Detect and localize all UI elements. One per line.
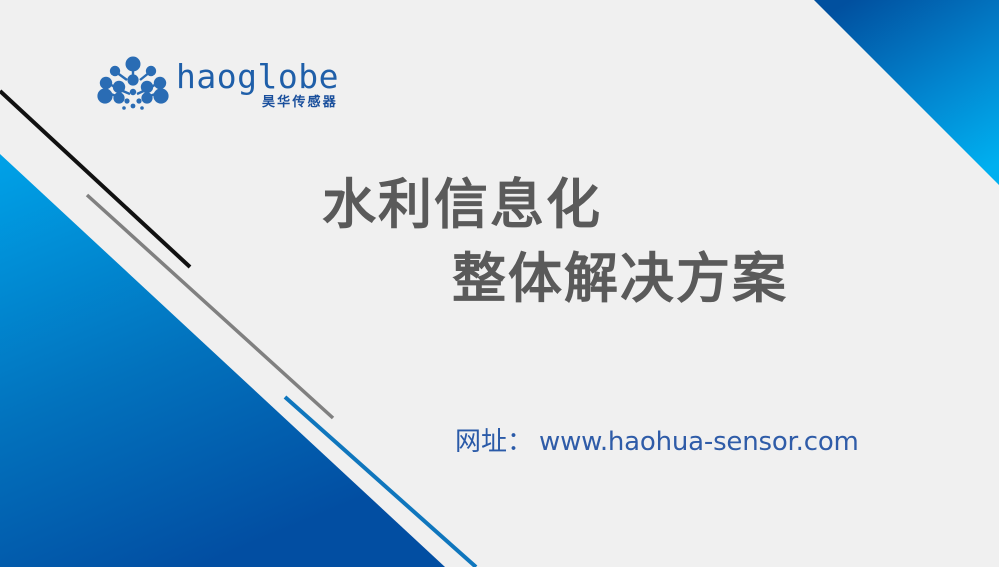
haoglobe-network-nodes-logo-icon	[96, 56, 170, 114]
website-url[interactable]: www.haohua-sensor.com	[539, 427, 859, 457]
company-logo: haoglobe 昊华传感器	[96, 56, 326, 122]
title-line-2: 整体解决方案	[300, 242, 880, 316]
website-label: 网址：	[455, 421, 533, 458]
logo-text-lockup: haoglobe 昊华传感器	[176, 56, 339, 110]
presentation-title-slide: haoglobe 昊华传感器 水利信息化 整体解决方案 网址： www.haoh…	[0, 0, 999, 567]
logo-wordmark: haoglobe	[176, 60, 339, 94]
page-title: 水利信息化 整体解决方案	[300, 168, 880, 316]
top-right-blue-triangle	[814, 0, 999, 185]
logo-subtitle: 昊华传感器	[262, 95, 338, 110]
title-line-1: 水利信息化	[300, 168, 880, 242]
website-line: 网址： www.haohua-sensor.com	[455, 421, 859, 458]
